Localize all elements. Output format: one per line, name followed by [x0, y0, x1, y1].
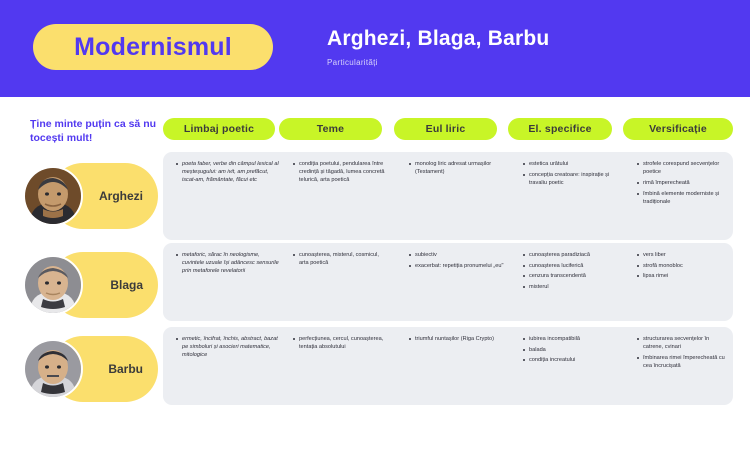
- bullet-item: strofele corespund secvențelor poetice: [637, 160, 729, 176]
- bullet-list: ermetic, încifrat, închis, abstract, baz…: [168, 335, 280, 360]
- bullet-item: condiția poetului, pendularea între cred…: [293, 160, 390, 185]
- cell-eul-liric: triumful nuntașilor (Riga Crypto): [401, 327, 506, 346]
- cell-versificatie: vers liberstrofă monobloclipsa rimei: [629, 243, 729, 283]
- column-header-el-specifice: El. specifice: [508, 118, 612, 140]
- author-card-blaga: Blaga: [23, 252, 158, 318]
- bullet-list: vers liberstrofă monobloclipsa rimei: [629, 251, 729, 281]
- bullet-item: exacerbat: repetiția pronumelui „eu": [409, 262, 506, 270]
- cell-teme: cunoașterea, misterul, cosmicul, arta po…: [285, 243, 390, 270]
- modernism-title-pill: Modernismul: [33, 24, 273, 70]
- bullet-list: iubirea incompatibilăbaladacondiția incr…: [515, 335, 620, 365]
- cell-limbaj-poetic: poeta faber, verbe din câmpul lexical al…: [168, 152, 280, 187]
- bullet-list: metaforic, sărac în neologisme, cuvintel…: [168, 251, 280, 276]
- bullet-item: metaforic, sărac în neologisme, cuvintel…: [176, 251, 280, 276]
- portrait-illustration: [25, 168, 81, 224]
- cell-teme: condiția poetului, pendularea între cred…: [285, 152, 390, 187]
- bullet-item: rimă împerecheată: [637, 179, 729, 187]
- column-header-label: El. specifice: [528, 123, 591, 135]
- bullet-list: structurarea secvențelor în catrene, cvi…: [629, 335, 729, 370]
- column-header-label: Limbaj poetic: [184, 123, 254, 135]
- bullet-list: cunoașterea paradiziacăcunoașterea lucif…: [515, 251, 620, 291]
- cell-el-specifice: iubirea incompatibilăbaladacondiția incr…: [515, 327, 620, 367]
- cell-versificatie: strofele corespund secvențelor poeticeri…: [629, 152, 729, 209]
- page-title: Arghezi, Blaga, Barbu: [327, 27, 549, 51]
- bullet-list: estetica urâtuluiconcepția creatoare: in…: [515, 160, 620, 187]
- cell-limbaj-poetic: ermetic, încifrat, închis, abstract, baz…: [168, 327, 280, 362]
- cell-versificatie: structurarea secvențelor în catrene, cvi…: [629, 327, 729, 373]
- bullet-item: îmbinarea rimei împerecheată cu cea încr…: [637, 354, 729, 370]
- bullet-item: estetica urâtului: [523, 160, 620, 168]
- bullet-item: cunoașterea paradiziacă: [523, 251, 620, 259]
- bullet-list: monolog liric adresat urmașilor (Testame…: [401, 160, 506, 176]
- table-row-barbu: ermetic, încifrat, închis, abstract, baz…: [163, 327, 733, 405]
- author-card-arghezi: Arghezi: [23, 163, 158, 229]
- author-name-label: Arghezi: [99, 189, 143, 203]
- bullet-list: poeta faber, verbe din câmpul lexical al…: [168, 160, 280, 185]
- avatar-blaga: [23, 255, 83, 315]
- reminder-note: Ține minte puțin ca să nu tocești mult!: [30, 117, 160, 145]
- bullet-item: cunoașterea, misterul, cosmicul, arta po…: [293, 251, 390, 267]
- bullet-item: condiția increatului: [523, 356, 620, 364]
- cell-limbaj-poetic: metaforic, sărac în neologisme, cuvintel…: [168, 243, 280, 278]
- bullet-list: condiția poetului, pendularea între cred…: [285, 160, 390, 185]
- bullet-item: concepția creatoare: inspirație și trava…: [523, 171, 620, 187]
- column-header-label: Versificație: [649, 123, 707, 135]
- table-row-arghezi: poeta faber, verbe din câmpul lexical al…: [163, 152, 733, 240]
- column-header-label: Eul liric: [426, 123, 466, 135]
- bullet-list: triumful nuntașilor (Riga Crypto): [401, 335, 506, 343]
- bullet-item: monolog liric adresat urmașilor (Testame…: [409, 160, 506, 176]
- table-row-blaga: metaforic, sărac în neologisme, cuvintel…: [163, 243, 733, 321]
- bullet-item: ermetic, încifrat, închis, abstract, baz…: [176, 335, 280, 360]
- cell-teme: perfecțiunea, cercul, cunoașterea, tenta…: [285, 327, 390, 354]
- bullet-item: balada: [523, 346, 620, 354]
- author-name-label: Barbu: [108, 362, 143, 376]
- column-header-eul-liric: Eul liric: [394, 118, 497, 140]
- bullet-list: subiectivexacerbat: repetiția pronumelui…: [401, 251, 506, 270]
- bullet-list: cunoașterea, misterul, cosmicul, arta po…: [285, 251, 390, 267]
- column-header-limbaj-poetic: Limbaj poetic: [163, 118, 275, 140]
- bullet-list: strofele corespund secvențelor poeticeri…: [629, 160, 729, 206]
- bullet-item: vers liber: [637, 251, 729, 259]
- bullet-item: strofă monobloc: [637, 262, 729, 270]
- page-header: Modernismul Arghezi, Blaga, Barbu Partic…: [0, 0, 750, 97]
- bullet-item: misterul: [523, 283, 620, 291]
- cell-eul-liric: monolog liric adresat urmașilor (Testame…: [401, 152, 506, 179]
- avatar-barbu: [23, 339, 83, 399]
- cell-el-specifice: estetica urâtuluiconcepția creatoare: in…: [515, 152, 620, 190]
- bullet-item: cunoașterea luciferică: [523, 262, 620, 270]
- bullet-item: cenzura transcendentă: [523, 272, 620, 280]
- cell-eul-liric: subiectivexacerbat: repetiția pronumelui…: [401, 243, 506, 272]
- bullet-item: perfecțiunea, cercul, cunoașterea, tenta…: [293, 335, 390, 351]
- bullet-list: perfecțiunea, cercul, cunoașterea, tenta…: [285, 335, 390, 351]
- page-subtitle: Particularități: [327, 58, 378, 67]
- bullet-item: triumful nuntașilor (Riga Crypto): [409, 335, 506, 343]
- bullet-item: îmbină elemente moderniste și tradiționa…: [637, 190, 729, 206]
- author-card-barbu: Barbu: [23, 336, 158, 402]
- column-header-label: Teme: [317, 123, 344, 135]
- bullet-item: poeta faber, verbe din câmpul lexical al…: [176, 160, 280, 185]
- avatar-arghezi: [23, 166, 83, 226]
- bullet-item: iubirea incompatibilă: [523, 335, 620, 343]
- portrait-illustration: [25, 257, 81, 313]
- bullet-item: subiectiv: [409, 251, 506, 259]
- bullet-item: structurarea secvențelor în catrene, cvi…: [637, 335, 729, 351]
- cell-el-specifice: cunoașterea paradiziacăcunoașterea lucif…: [515, 243, 620, 294]
- column-header-versificatie: Versificație: [623, 118, 733, 140]
- column-header-teme: Teme: [279, 118, 382, 140]
- bullet-item: lipsa rimei: [637, 272, 729, 280]
- author-name-label: Blaga: [110, 278, 143, 292]
- portrait-illustration: [25, 341, 81, 397]
- modernism-title-label: Modernismul: [74, 33, 232, 62]
